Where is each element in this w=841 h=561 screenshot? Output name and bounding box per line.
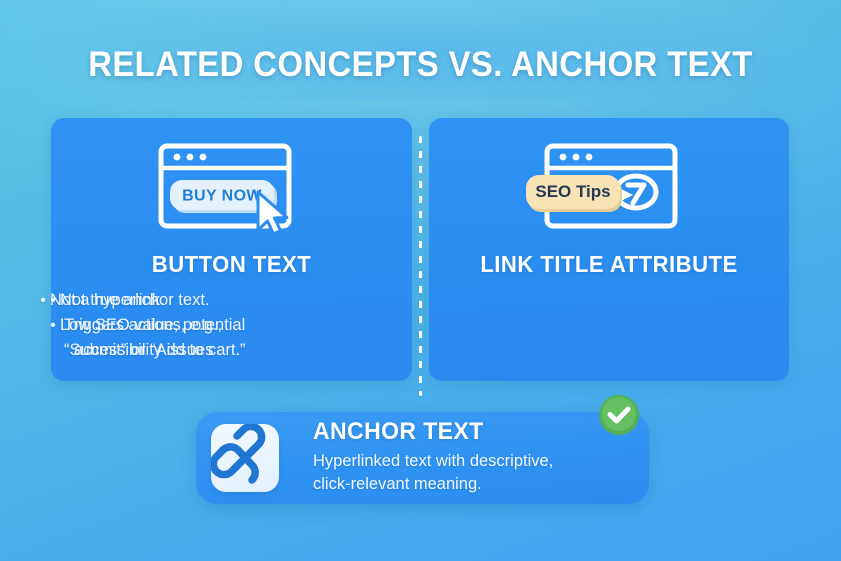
browser-window-buy-now-icon: BUY NOW — [157, 142, 307, 237]
bullet-text: Not true anchor text. — [60, 288, 341, 313]
card-right-bullets: • Not true anchor text. • Low SEO value,… — [46, 288, 341, 363]
card-bottom-heading: ANCHOR TEXT — [313, 418, 484, 446]
buy-now-label: BUY NOW — [182, 188, 262, 205]
card-right-heading: LINK TITLE ATTRIBUTE — [436, 251, 782, 278]
chain-link-tile — [211, 424, 279, 492]
description-line-2: click-relevant meaning. — [313, 473, 633, 496]
chain-link-icon — [211, 424, 279, 492]
check-badge — [598, 394, 640, 436]
browser-dot-3 — [586, 154, 593, 161]
browser-dot-1 — [174, 154, 181, 161]
browser-window-seo-tooltip-icon: SEO Tips — [525, 140, 690, 240]
bullet-dot: • — [46, 313, 60, 338]
description-line-1: Hyperlinked text with descriptive, — [313, 450, 633, 473]
browser-dot-2 — [573, 154, 580, 161]
browser-dot-1 — [560, 154, 567, 161]
bullet-item: • Not true anchor text. — [46, 288, 341, 313]
tooltip-label: SEO Tips — [535, 182, 610, 201]
browser-dot-3 — [200, 154, 207, 161]
bullet-text: Low SEO value, potential — [60, 313, 341, 338]
dashed-divider — [419, 136, 422, 396]
bullet-dot: • — [46, 288, 60, 313]
infographic-canvas: RELATED CONCEPTS VS. ANCHOR TEXT BUY NOW… — [0, 0, 841, 561]
card-bottom-description: Hyperlinked text with descriptive, click… — [313, 450, 633, 496]
check-badge-circle — [602, 397, 636, 431]
browser-dot-2 — [187, 154, 194, 161]
seo-tips-tooltip: SEO Tips — [526, 175, 633, 212]
bullet-item: • Low SEO value, potential — [46, 313, 341, 338]
page-title: RELATED CONCEPTS VS. ANCHOR TEXT — [25, 44, 816, 86]
bullet-text: accessibility issues — [60, 338, 341, 363]
card-left-heading: BUTTON TEXT — [58, 251, 405, 278]
bullet-item: accessibility issues — [46, 338, 341, 363]
